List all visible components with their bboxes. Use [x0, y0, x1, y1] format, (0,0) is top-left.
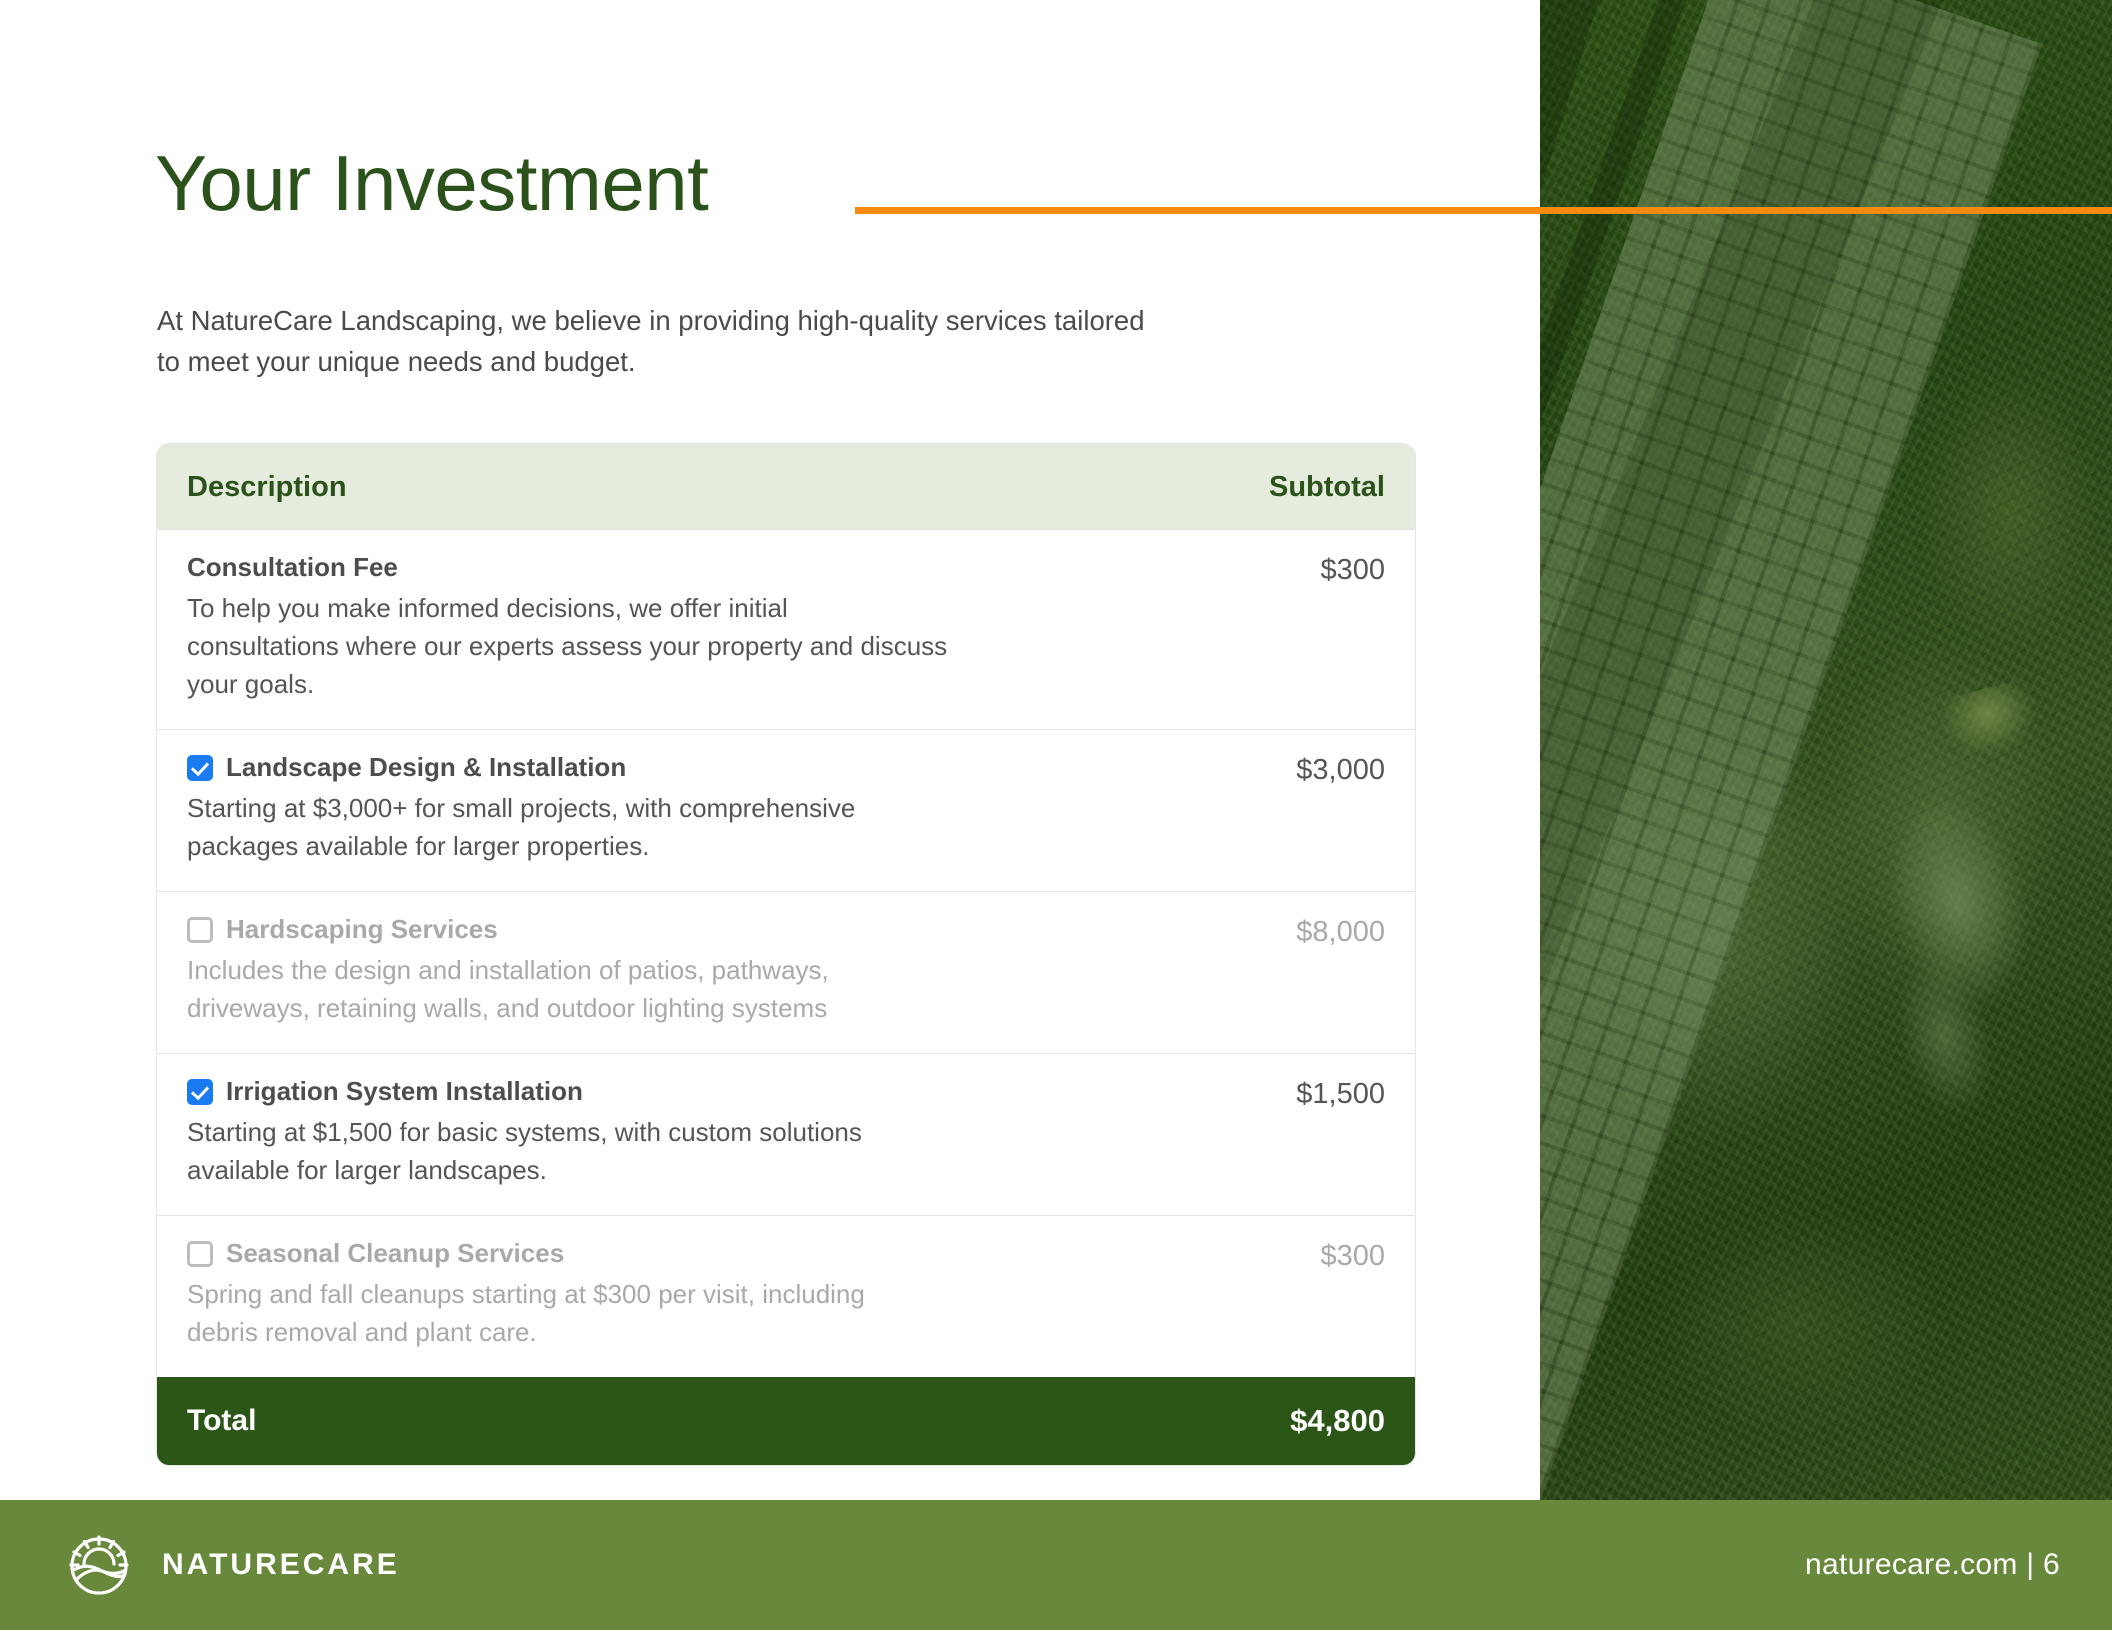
column-header-subtotal: Subtotal: [1269, 471, 1385, 504]
row-checkbox-unchecked[interactable]: [187, 917, 213, 943]
row-checkbox-checked[interactable]: [187, 1079, 213, 1105]
row-description-line: Spring and fall cleanups starting at $30…: [187, 1275, 1290, 1313]
investment-table: Description Subtotal Consultation Fee To…: [157, 444, 1415, 1465]
table-row[interactable]: Consultation Fee To help you make inform…: [157, 529, 1415, 729]
row-description-cell: Irrigation System Installation Starting …: [187, 1076, 1296, 1189]
row-description-line: available for larger landscapes.: [187, 1151, 1266, 1189]
hero-green-tint-overlay: [1540, 0, 2112, 1500]
hero-image-panel: [1540, 0, 2112, 1500]
row-subtotal: $1,500: [1296, 1076, 1385, 1111]
row-description: Starting at $1,500 for basic systems, wi…: [187, 1113, 1266, 1189]
brand-lockup: NATURECARE: [62, 1526, 400, 1605]
row-title-text: Seasonal Cleanup Services: [226, 1238, 564, 1269]
row-title: Hardscaping Services: [187, 914, 1266, 945]
page-footer: NATURECARE naturecare.com | 6: [0, 1500, 2112, 1630]
row-subtotal: $8,000: [1296, 914, 1385, 949]
row-description-cell: Hardscaping Services Includes the design…: [187, 914, 1296, 1027]
row-title: Seasonal Cleanup Services: [187, 1238, 1290, 1269]
row-description: To help you make informed decisions, we …: [187, 589, 1290, 703]
row-subtotal: $300: [1320, 552, 1385, 587]
row-description-cell: Consultation Fee To help you make inform…: [187, 552, 1320, 703]
row-subtotal: $300: [1320, 1238, 1385, 1273]
row-title: Consultation Fee: [187, 552, 1290, 583]
row-description-line: driveways, retaining walls, and outdoor …: [187, 989, 1266, 1027]
row-description-line: packages available for larger properties…: [187, 827, 1266, 865]
table-row[interactable]: Irrigation System Installation Starting …: [157, 1053, 1415, 1215]
row-description-line: To help you make informed decisions, we …: [187, 589, 1290, 627]
intro-paragraph: At NatureCare Landscaping, we believe in…: [157, 300, 1337, 382]
row-checkbox-unchecked[interactable]: [187, 1241, 213, 1267]
row-description: Spring and fall cleanups starting at $30…: [187, 1275, 1290, 1351]
row-description: Starting at $3,000+ for small projects, …: [187, 789, 1266, 865]
row-subtotal: $3,000: [1296, 752, 1385, 787]
row-title-text: Landscape Design & Installation: [226, 752, 626, 783]
brand-name: NATURECARE: [162, 1548, 400, 1582]
row-title-text: Consultation Fee: [187, 552, 398, 583]
intro-line-2: to meet your unique needs and budget.: [157, 341, 1337, 382]
row-description-cell: Landscape Design & Installation Starting…: [187, 752, 1296, 865]
table-row[interactable]: Seasonal Cleanup Services Spring and fal…: [157, 1215, 1415, 1377]
row-description: Includes the design and installation of …: [187, 951, 1266, 1027]
table-total-row: Total $4,800: [157, 1377, 1415, 1465]
column-header-description: Description: [187, 471, 347, 504]
row-description-line: Starting at $3,000+ for small projects, …: [187, 789, 1266, 827]
row-description-line: your goals.: [187, 665, 1290, 703]
row-title: Irrigation System Installation: [187, 1076, 1266, 1107]
table-row[interactable]: Hardscaping Services Includes the design…: [157, 891, 1415, 1053]
page-title: Your Investment: [155, 144, 708, 222]
row-title-text: Irrigation System Installation: [226, 1076, 583, 1107]
footer-website-and-page: naturecare.com | 6: [1805, 1548, 2060, 1582]
total-value: $4,800: [1290, 1403, 1385, 1439]
row-title-text: Hardscaping Services: [226, 914, 498, 945]
row-description-line: consultations where our experts assess y…: [187, 627, 1290, 665]
row-description-line: debris removal and plant care.: [187, 1313, 1290, 1351]
table-row[interactable]: Landscape Design & Installation Starting…: [157, 729, 1415, 891]
intro-line-1: At NatureCare Landscaping, we believe in…: [157, 300, 1337, 341]
title-accent-rule: [855, 207, 2112, 214]
row-description-line: Includes the design and installation of …: [187, 951, 1266, 989]
sunrise-over-field-icon: [62, 1526, 136, 1605]
row-description-cell: Seasonal Cleanup Services Spring and fal…: [187, 1238, 1320, 1351]
row-description-line: Starting at $1,500 for basic systems, wi…: [187, 1113, 1266, 1151]
total-label: Total: [187, 1404, 256, 1438]
row-checkbox-checked[interactable]: [187, 755, 213, 781]
row-title: Landscape Design & Installation: [187, 752, 1266, 783]
table-header-row: Description Subtotal: [157, 444, 1415, 529]
